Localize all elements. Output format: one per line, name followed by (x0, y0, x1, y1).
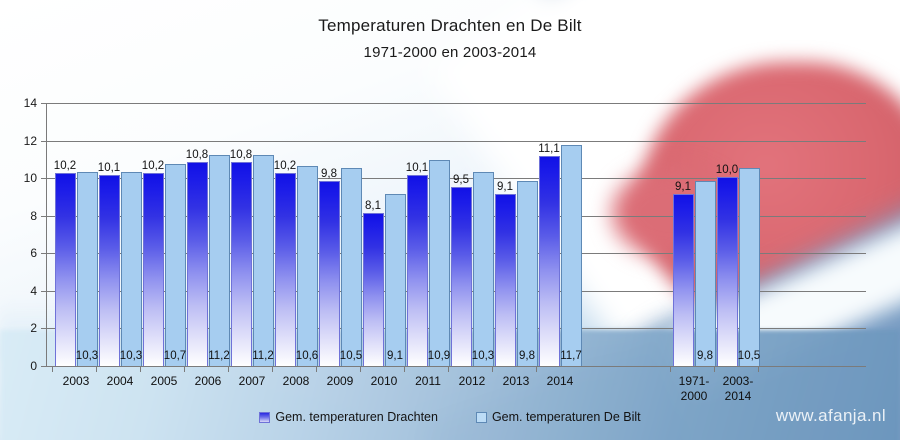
bar-value-label: 10,0 (716, 164, 738, 176)
x-axis-label: 2009 (318, 374, 362, 389)
bar-value-label: 9,8 (519, 350, 535, 362)
legend-item-drachten[interactable]: Gem. temperaturen Drachten (259, 410, 438, 424)
bar-group-bars: 8,19,1 (362, 103, 406, 366)
bar-debilt: 10,5 (341, 168, 362, 366)
bar-group-bars: 9,19,8 (494, 103, 538, 366)
bar-group: 9,510,3 (450, 103, 494, 366)
bar-value-label: 9,1 (675, 181, 691, 193)
bar-group-bars: 10,010,5 (716, 103, 760, 366)
bar-debilt: 9,8 (695, 181, 716, 366)
bar-drachten: 9,1 (673, 194, 694, 366)
x-axis-tick (96, 366, 97, 372)
y-axis-tick (41, 141, 46, 142)
x-axis-label: 2006 (186, 374, 230, 389)
y-axis-tick-label: 2 (30, 321, 37, 335)
bar-group: 10,110,9 (406, 103, 450, 366)
watermark: www.afanja.nl (776, 406, 886, 426)
bar-value-label: 10,3 (120, 350, 142, 362)
bar-group-bars: 10,210,3 (54, 103, 98, 366)
bar-drachten: 10,2 (55, 173, 76, 366)
bar-drachten: 9,5 (451, 187, 472, 366)
bar-value-label: 10,1 (98, 162, 120, 174)
x-axis-label: 2010 (362, 374, 406, 389)
bar-group: 10,010,5 (716, 103, 760, 366)
bar-drachten: 10,1 (407, 175, 428, 366)
bar-group-bars: 11,111,7 (538, 103, 582, 366)
bar-drachten: 9,1 (495, 194, 516, 366)
chart-legend: Gem. temperaturen DrachtenGem. temperatu… (0, 410, 900, 424)
legend-item-debilt[interactable]: Gem. temperaturen De Bilt (476, 410, 641, 424)
x-axis-tick (404, 366, 405, 372)
x-axis-tick (272, 366, 273, 372)
chart-container: Temperaturen Drachten en De Bilt 1971-20… (0, 0, 900, 440)
bar-group-bars: 9,19,8 (672, 103, 716, 366)
bar-drachten: 10,1 (99, 175, 120, 366)
bar-drachten: 10,0 (717, 177, 738, 366)
bar-debilt: 10,9 (429, 160, 450, 366)
y-axis-tick-label: 10 (24, 171, 37, 185)
legend-swatch-icon (259, 412, 270, 423)
y-axis-tick-label: 0 (30, 359, 37, 373)
y-axis-tick (41, 216, 46, 217)
bar-drachten: 11,1 (539, 156, 560, 366)
bar-drachten: 10,8 (187, 162, 208, 366)
bar-value-label: 9,5 (453, 174, 469, 186)
bar-group-bars: 9,810,5 (318, 103, 362, 366)
x-axis-tick (228, 366, 229, 372)
chart-title: Temperaturen Drachten en De Bilt (0, 16, 900, 36)
x-axis-label: 2004 (98, 374, 142, 389)
bar-debilt: 9,8 (517, 181, 538, 366)
bar-debilt: 11,2 (209, 155, 230, 366)
bar-debilt: 11,7 (561, 145, 582, 366)
bar-debilt: 10,3 (473, 172, 494, 366)
bar-value-label: 10,3 (472, 350, 494, 362)
x-axis-label: 2011 (406, 374, 450, 389)
x-axis-tick (448, 366, 449, 372)
bar-value-label: 10,3 (76, 350, 98, 362)
bar-group-bars: 10,110,3 (98, 103, 142, 366)
y-axis-line (46, 103, 47, 366)
bar-group: 9,810,5 (318, 103, 362, 366)
bar-value-label: 10,2 (274, 160, 296, 172)
y-axis-tick (41, 178, 46, 179)
x-axis-label: 2014 (538, 374, 582, 389)
bar-debilt: 10,3 (77, 172, 98, 366)
bar-drachten: 10,8 (231, 162, 252, 366)
bar-debilt: 9,1 (385, 194, 406, 366)
bar-group: 11,111,7 (538, 103, 582, 366)
bar-group: 10,811,2 (230, 103, 274, 366)
bar-value-label: 9,1 (497, 181, 513, 193)
bar-debilt: 10,3 (121, 172, 142, 366)
bar-drachten: 10,2 (143, 173, 164, 366)
y-axis-tick-label: 14 (24, 96, 37, 110)
bar-group-bars: 10,110,9 (406, 103, 450, 366)
bar-value-label: 10,8 (186, 149, 208, 161)
bar-group-bars: 10,210,7 (142, 103, 186, 366)
bar-group: 9,19,8 (672, 103, 716, 366)
bar-group: 10,811,2 (186, 103, 230, 366)
bar-group-bars: 10,811,2 (186, 103, 230, 366)
x-axis-tick (670, 366, 671, 372)
x-axis-tick (140, 366, 141, 372)
bar-debilt: 10,5 (739, 168, 760, 366)
x-axis-tick (536, 366, 537, 372)
x-axis-label: 2003 (54, 374, 98, 389)
x-axis-tick (758, 366, 759, 372)
y-axis-tick (41, 328, 46, 329)
bar-drachten: 10,2 (275, 173, 296, 366)
y-axis-tick-label: 12 (24, 134, 37, 148)
bar-group: 10,210,6 (274, 103, 318, 366)
x-axis-tick (52, 366, 53, 372)
bar-drachten: 9,8 (319, 181, 340, 366)
legend-item-label: Gem. temperaturen Drachten (275, 410, 438, 424)
bar-debilt: 11,2 (253, 155, 274, 366)
bar-group: 9,19,8 (494, 103, 538, 366)
y-axis-tick-label: 8 (30, 209, 37, 223)
x-axis-tick (184, 366, 185, 372)
bar-debilt: 10,7 (165, 164, 186, 366)
bar-group: 10,110,3 (98, 103, 142, 366)
bar-value-label: 10,5 (738, 350, 760, 362)
x-axis-tick (714, 366, 715, 372)
bar-value-label: 10,5 (340, 350, 362, 362)
y-axis-tick (41, 103, 46, 104)
bar-group-bars: 10,811,2 (230, 103, 274, 366)
bar-value-label: 11,2 (208, 350, 230, 362)
bar-value-label: 10,2 (142, 160, 164, 172)
bar-value-label: 10,9 (428, 350, 450, 362)
bar-value-label: 10,1 (406, 162, 428, 174)
y-axis-tick (41, 366, 46, 367)
x-axis-label: 2007 (230, 374, 274, 389)
bar-value-label: 9,1 (387, 350, 403, 362)
bar-value-label: 10,8 (230, 149, 252, 161)
bar-value-label: 10,2 (54, 160, 76, 172)
bar-value-label: 9,8 (697, 350, 713, 362)
bar-value-label: 10,6 (296, 350, 318, 362)
x-axis-label: 2008 (274, 374, 318, 389)
bar-value-label: 11,2 (252, 350, 274, 362)
bar-debilt: 10,6 (297, 166, 318, 366)
x-axis-label: 1971- 2000 (672, 374, 716, 404)
y-axis-tick (41, 291, 46, 292)
x-axis-tick (316, 366, 317, 372)
x-axis-label: 2013 (494, 374, 538, 389)
legend-item-label: Gem. temperaturen De Bilt (492, 410, 641, 424)
chart-subtitle: 1971-2000 en 2003-2014 (0, 44, 900, 61)
y-axis-tick (41, 253, 46, 254)
bar-group: 10,210,3 (54, 103, 98, 366)
bar-group: 8,19,1 (362, 103, 406, 366)
bar-value-label: 10,7 (164, 350, 186, 362)
x-axis-label: 2003- 2014 (716, 374, 760, 404)
x-axis-tick (492, 366, 493, 372)
y-axis-tick-label: 6 (30, 246, 37, 260)
plot-area: 1412108642010,210,3200310,110,3200410,21… (46, 103, 866, 366)
y-axis-tick-label: 4 (30, 284, 37, 298)
bar-value-label: 11,7 (560, 350, 582, 362)
bar-value-label: 8,1 (365, 200, 381, 212)
bar-group-bars: 10,210,6 (274, 103, 318, 366)
x-axis-tick (360, 366, 361, 372)
bar-drachten: 8,1 (363, 213, 384, 366)
bar-value-label: 9,8 (321, 168, 337, 180)
x-axis-label: 2012 (450, 374, 494, 389)
legend-swatch-icon (476, 412, 487, 423)
x-axis-label: 2005 (142, 374, 186, 389)
bar-group-bars: 9,510,3 (450, 103, 494, 366)
title-block: Temperaturen Drachten en De Bilt 1971-20… (0, 16, 900, 61)
bar-group: 10,210,7 (142, 103, 186, 366)
gridline (46, 366, 866, 367)
bar-value-label: 11,1 (538, 143, 560, 155)
